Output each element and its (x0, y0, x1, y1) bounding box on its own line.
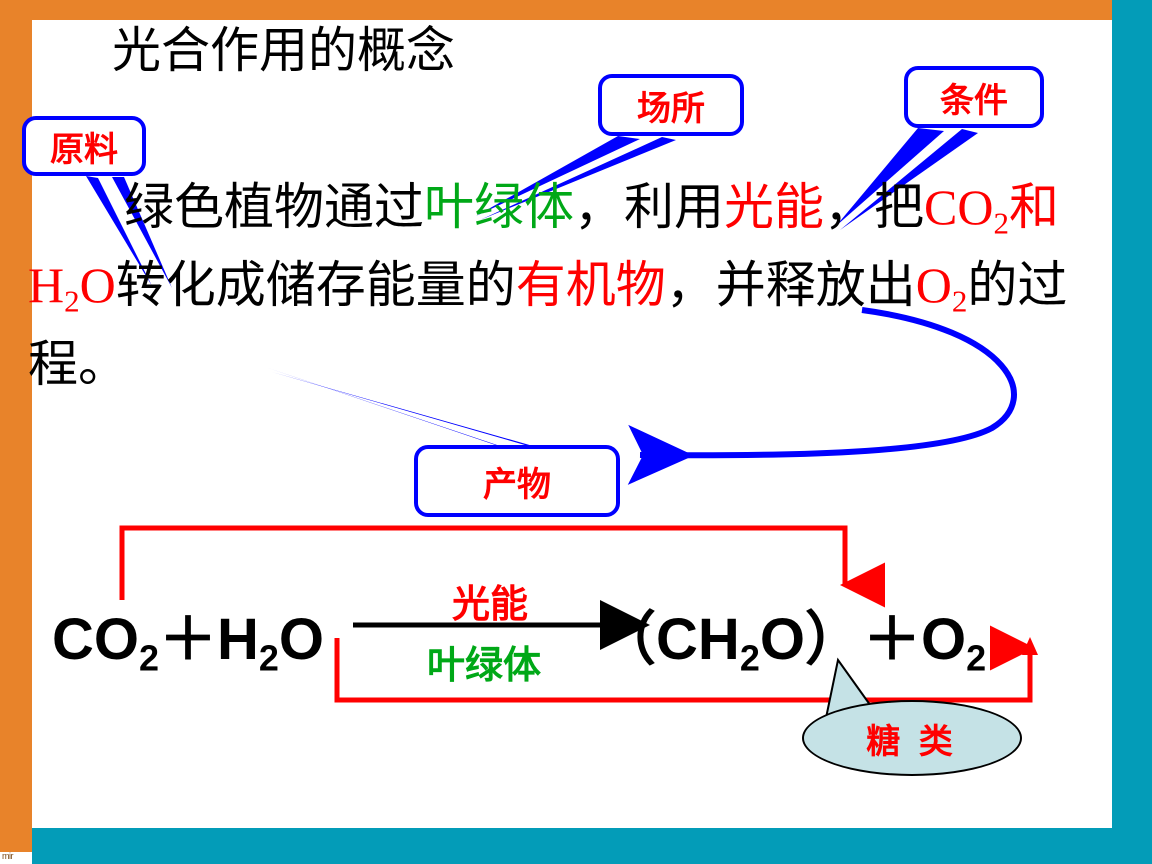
definition-and: 和 (1009, 179, 1059, 235)
definition-segment-5: ，并 (666, 257, 766, 313)
equation-co2: CO (52, 606, 139, 673)
equation-h2o-o: O (279, 606, 324, 673)
callout-raw-material[interactable]: 原料 (22, 116, 146, 176)
definition-o2-subscript: 2 (952, 284, 968, 319)
equation-product-o: O） (760, 592, 863, 676)
callout-place[interactable]: 场所 (598, 74, 744, 136)
definition-h2o-subscript: 2 (64, 284, 80, 319)
definition-organic-matter: 有机物 (516, 257, 666, 313)
frame-right-bar (1112, 0, 1152, 864)
page-title: 光合作用的概念 (112, 26, 455, 75)
watermark-text: mir (2, 851, 13, 861)
callout-sugar[interactable]: 糖 类 (802, 700, 1022, 776)
definition-h2o-o: O (80, 257, 116, 313)
equation-plus-2: ＋O (863, 592, 966, 676)
equation-product-subscript: 2 (740, 638, 760, 679)
definition-chloroplast: 叶绿体 (424, 179, 574, 235)
definition-paragraph: 绿色植物通过叶绿体，利用光能，把CO2和H2O转化成储存能量的有机物，并释放出O… (28, 176, 1076, 395)
equation-plus-1: ＋ (159, 592, 217, 676)
equation-product-open: （CH (598, 592, 740, 676)
frame-bottom-bar (32, 828, 1152, 864)
equation-h2o-subscript: 2 (259, 638, 279, 679)
definition-light-energy: 光能 (724, 179, 824, 235)
equation-o2-subscript: 2 (966, 638, 986, 679)
definition-co2-subscript: 2 (993, 205, 1009, 240)
equation-co2-subscript: 2 (139, 638, 159, 679)
definition-co2: CO (924, 179, 993, 235)
definition-segment-2: ，利用 (574, 179, 724, 235)
callout-product[interactable]: 产物 (414, 445, 620, 517)
equation-condition-light: 光能 (452, 573, 528, 628)
definition-h2o-h: H (28, 257, 64, 313)
callout-condition[interactable]: 条件 (904, 66, 1044, 128)
definition-segment-4: 转化成储存能量的 (116, 257, 516, 313)
definition-segment-3: ，把 (824, 179, 924, 235)
equation-condition-chloroplast: 叶绿体 (427, 634, 541, 689)
slide-canvas: mir 光合作用的概念 (0, 0, 1152, 864)
definition-o2: O (916, 257, 952, 313)
definition-segment-1: 绿色植物通过 (124, 179, 424, 235)
definition-segment-6: 释放出 (766, 257, 916, 313)
frame-top-bar (0, 0, 1112, 20)
equation-h2o-h: H (217, 606, 259, 673)
